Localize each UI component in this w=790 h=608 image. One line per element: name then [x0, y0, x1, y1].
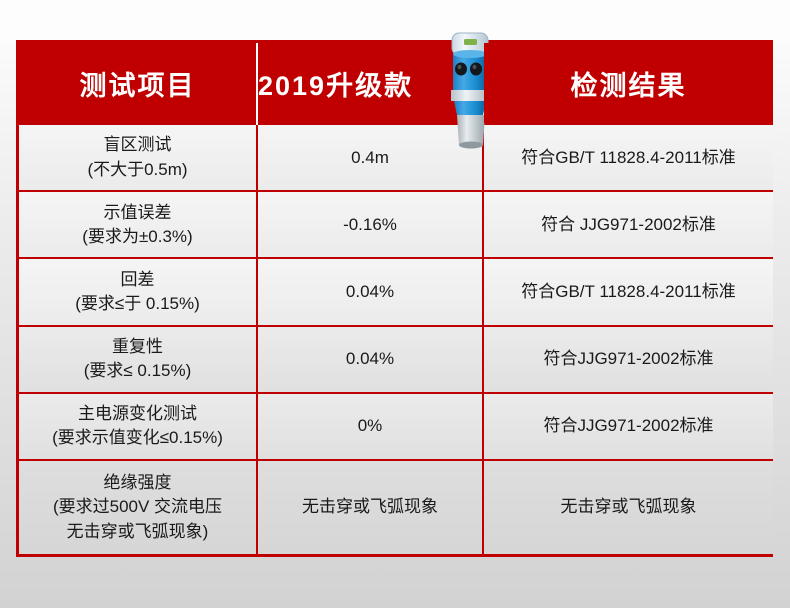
- table-row: 主电源变化测试 (要求示值变化≤0.15%) 0% 符合JJG971-2002标…: [19, 393, 773, 460]
- cell-test-item: 示值误差 (要求为±0.3%): [19, 191, 257, 258]
- cell-measured-value: 无击穿或飞弧现象: [257, 460, 483, 554]
- cell-measured-value: 0.04%: [257, 326, 483, 393]
- cell-measured-value: 0%: [257, 393, 483, 460]
- table-row: 示值误差 (要求为±0.3%) -0.16% 符合 JJG971-2002标准: [19, 191, 773, 258]
- table-row: 绝缘强度 (要求过500V 交流电压 无击穿或飞弧现象) 无击穿或飞弧现象 无击…: [19, 460, 773, 554]
- cell-measured-value: 0.4m: [257, 124, 483, 191]
- item-line-1: 回差: [25, 268, 250, 292]
- table-header: 测试项目 2019升级款: [19, 43, 773, 124]
- item-line-2: (要求≤于 0.15%): [25, 292, 250, 316]
- cell-measured-value: -0.16%: [257, 191, 483, 258]
- header-cell-model: 2019升级款: [257, 43, 483, 124]
- table-row: 重复性 (要求≤ 0.15%) 0.04% 符合JJG971-2002标准: [19, 326, 773, 393]
- cell-result: 无击穿或飞弧现象: [483, 460, 773, 554]
- table-row: 回差 (要求≤于 0.15%) 0.04% 符合GB/T 11828.4-201…: [19, 258, 773, 325]
- item-line-1: 盲区测试: [25, 133, 250, 157]
- item-line-3: 无击穿或飞弧现象): [25, 520, 250, 544]
- cell-result: 符合 JJG971-2002标准: [483, 191, 773, 258]
- cell-test-item: 回差 (要求≤于 0.15%): [19, 258, 257, 325]
- cell-test-item: 重复性 (要求≤ 0.15%): [19, 326, 257, 393]
- cell-test-item: 盲区测试 (不大于0.5m): [19, 124, 257, 191]
- item-line-1: 示值误差: [25, 201, 250, 225]
- header-row: 测试项目 2019升级款: [19, 43, 773, 124]
- item-line-2: (不大于0.5m): [25, 158, 250, 182]
- item-line-1: 重复性: [25, 335, 250, 359]
- test-results-table: 测试项目 2019升级款: [19, 43, 773, 554]
- cell-result: 符合JJG971-2002标准: [483, 326, 773, 393]
- header-cell-result: 检测结果: [483, 43, 773, 124]
- cell-test-item: 绝缘强度 (要求过500V 交流电压 无击穿或飞弧现象): [19, 460, 257, 554]
- cell-measured-value: 0.04%: [257, 258, 483, 325]
- item-line-1: 主电源变化测试: [25, 402, 250, 426]
- cell-test-item: 主电源变化测试 (要求示值变化≤0.15%): [19, 393, 257, 460]
- header-label-model: 2019升级款: [258, 71, 413, 101]
- cell-result: 符合GB/T 11828.4-2011标准: [483, 258, 773, 325]
- spec-table-container: 测试项目 2019升级款: [16, 40, 773, 557]
- item-line-2: (要求示值变化≤0.15%): [25, 426, 250, 450]
- item-line-2: (要求过500V 交流电压: [25, 495, 250, 519]
- header-cell-test-item: 测试项目: [19, 43, 257, 124]
- cell-result: 符合GB/T 11828.4-2011标准: [483, 124, 773, 191]
- item-line-2: (要求≤ 0.15%): [25, 359, 250, 383]
- top-white-band: [0, 0, 790, 40]
- item-line-2: (要求为±0.3%): [25, 225, 250, 249]
- table-body: 盲区测试 (不大于0.5m) 0.4m 符合GB/T 11828.4-2011标…: [19, 124, 773, 554]
- table-row: 盲区测试 (不大于0.5m) 0.4m 符合GB/T 11828.4-2011标…: [19, 124, 773, 191]
- cell-result: 符合JJG971-2002标准: [483, 393, 773, 460]
- item-line-1: 绝缘强度: [25, 471, 250, 495]
